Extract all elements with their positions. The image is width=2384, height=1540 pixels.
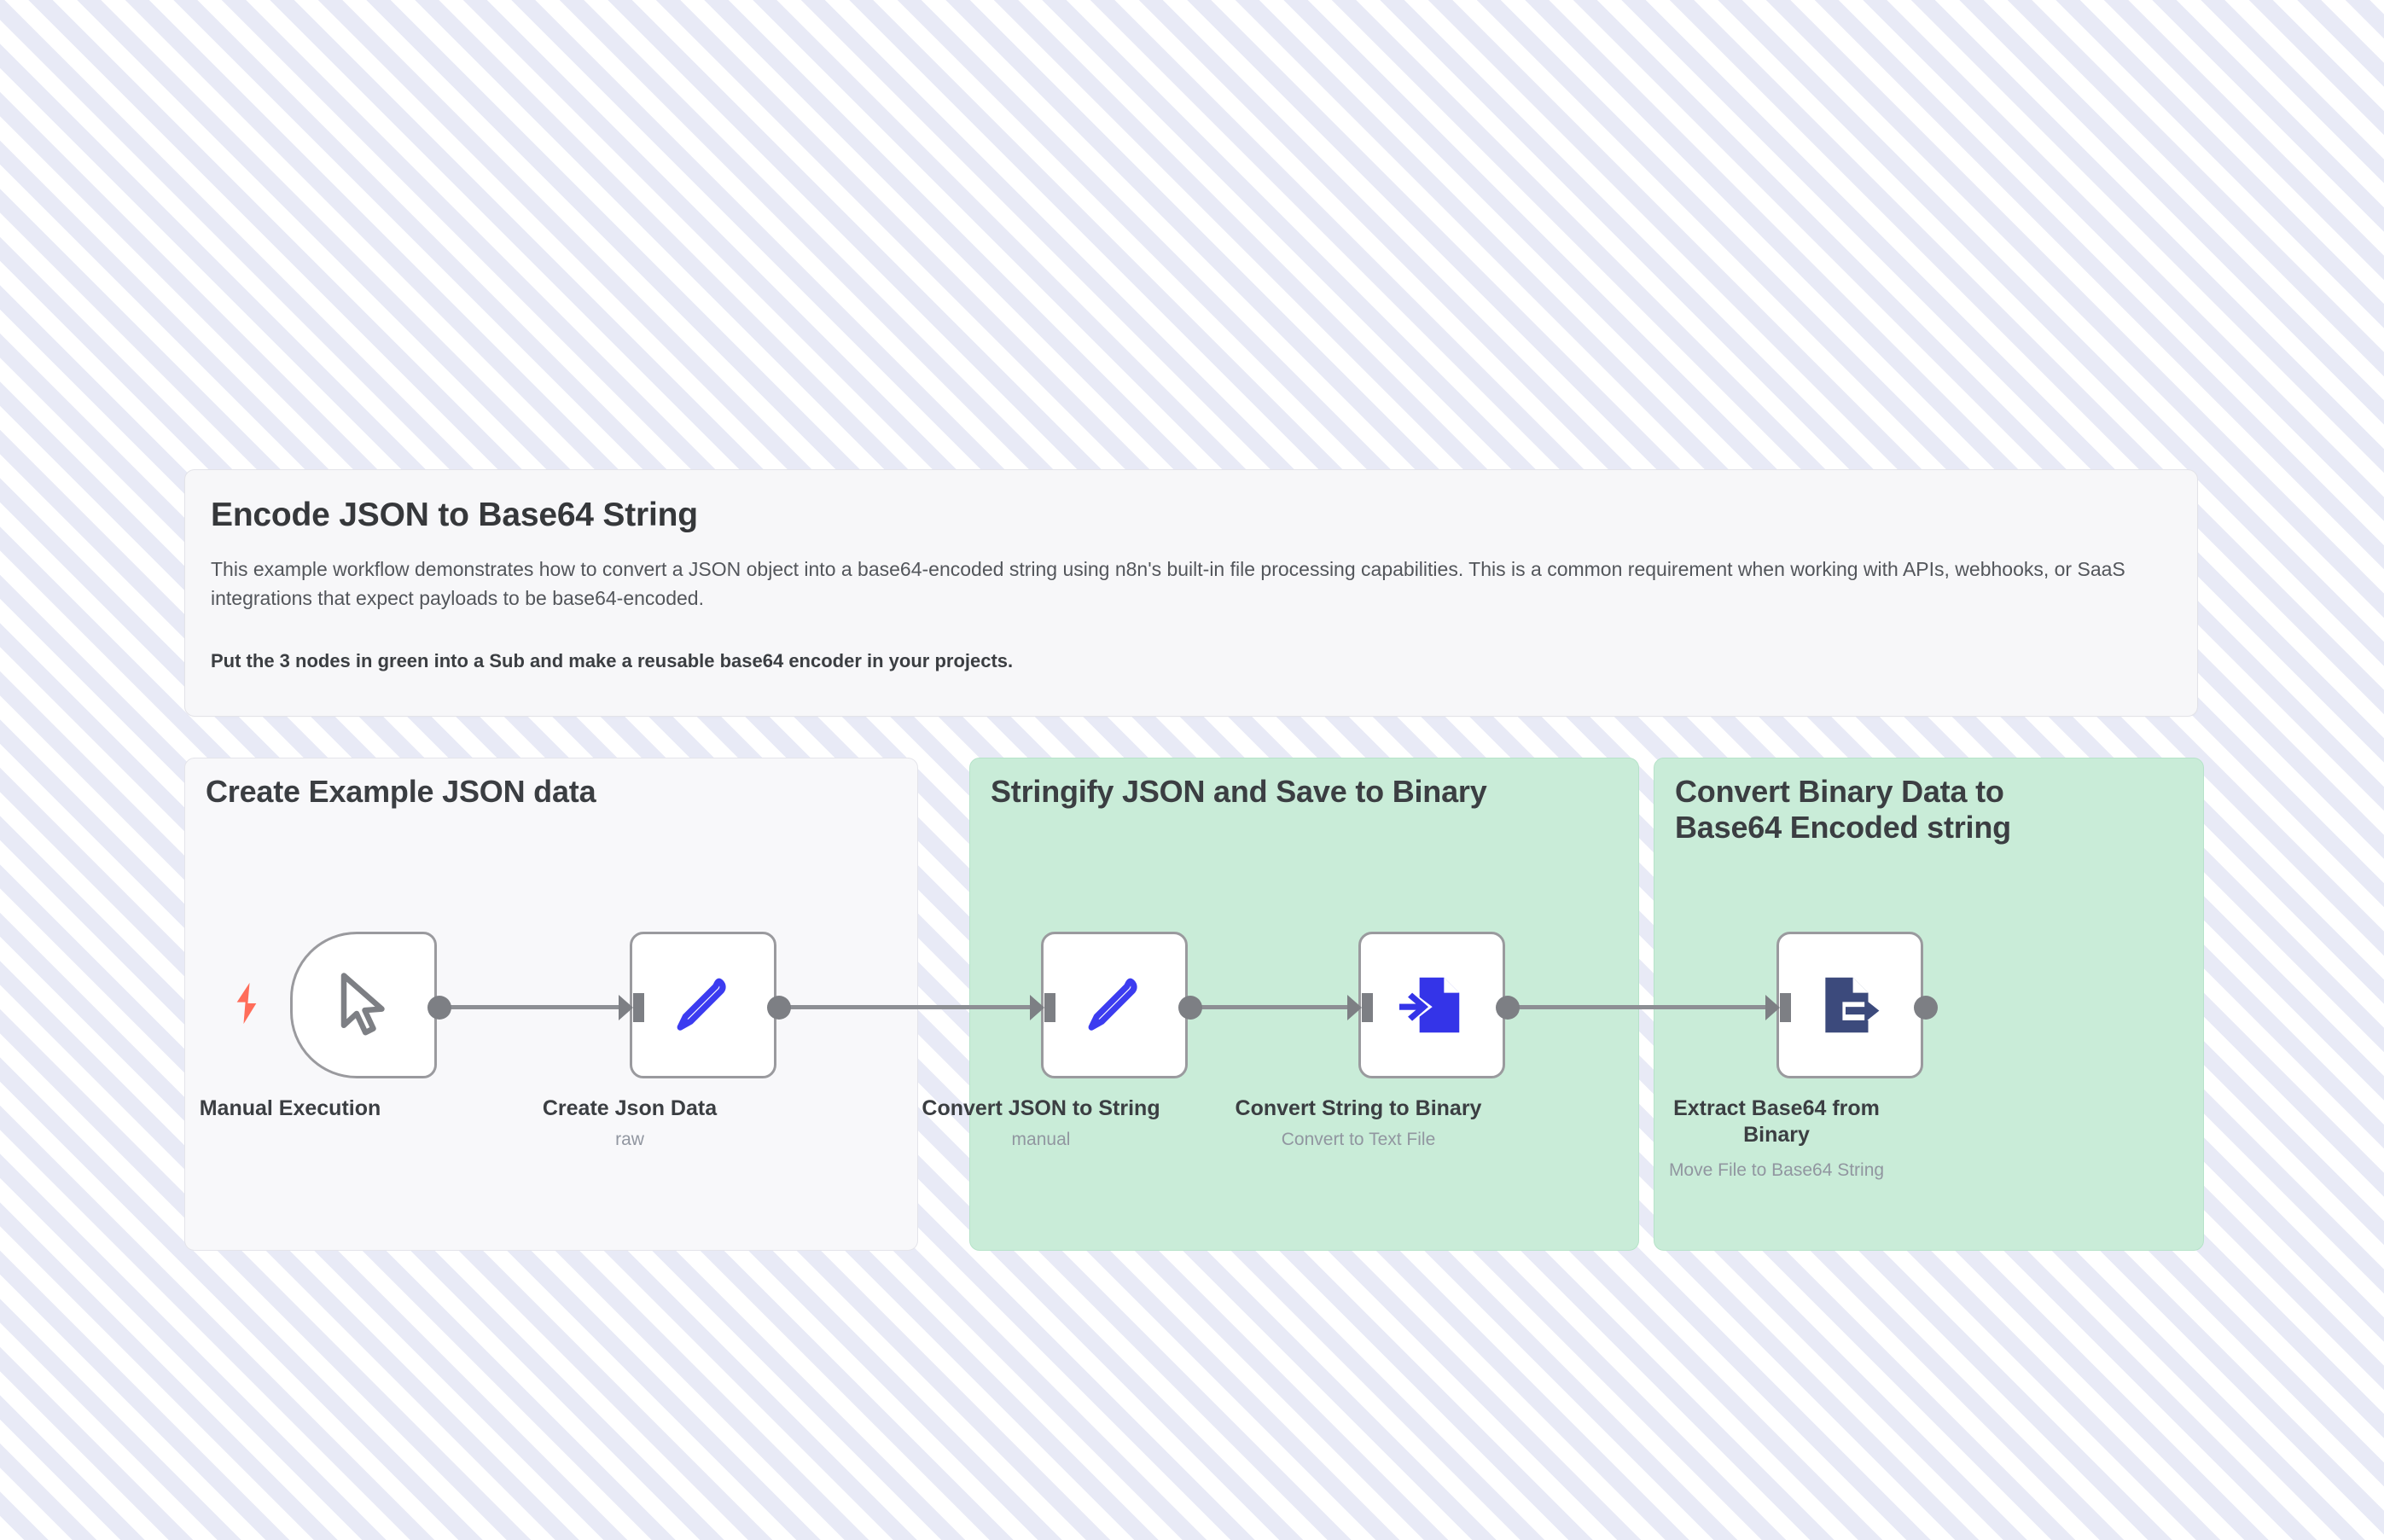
node-input-port[interactable]: [619, 993, 646, 1022]
node-output-port[interactable]: [767, 996, 791, 1020]
node-input-port[interactable]: [1765, 993, 1793, 1022]
node-body[interactable]: [1776, 932, 1923, 1078]
group-title: Stringify JSON and Save to Binary: [991, 774, 1487, 810]
connection-convbin-to-extract[interactable]: [1505, 1005, 1778, 1009]
file-import-icon: [1395, 968, 1468, 1042]
node-subtitle: raw: [615, 1130, 644, 1150]
node-subtitle: manual: [1012, 1130, 1071, 1150]
group-title: Create Example JSON data: [206, 774, 596, 810]
connection-createjson-to-convjson[interactable]: [776, 1005, 1043, 1009]
node-body[interactable]: [1358, 932, 1505, 1078]
node-body[interactable]: [630, 932, 776, 1078]
node-label: Extract Base64 from Binary: [1648, 1095, 1904, 1148]
node-label: Convert JSON to String: [922, 1095, 1160, 1122]
node-body[interactable]: [1041, 932, 1188, 1078]
lightning-bolt-icon: [232, 981, 261, 1026]
node-body[interactable]: [290, 932, 437, 1078]
node-output-port[interactable]: [427, 996, 451, 1020]
node-input-port[interactable]: [1030, 993, 1057, 1022]
sticky-note-title: Encode JSON to Base64 String: [211, 497, 2172, 534]
node-label: Manual Execution: [200, 1095, 381, 1122]
node-label: Convert String to Binary: [1236, 1095, 1482, 1122]
pencil-icon: [664, 966, 742, 1044]
sticky-note-paragraph: This example workflow demonstrates how t…: [211, 555, 2160, 613]
workflow-canvas[interactable]: Encode JSON to Base64 String This exampl…: [0, 0, 2384, 1540]
node-label: Create Json Data: [543, 1095, 717, 1122]
sticky-note-callout: Put the 3 nodes in green into a Sub and …: [211, 647, 2172, 675]
group-title: Convert Binary Data to Base64 Encoded st…: [1675, 774, 2011, 846]
connection-manual-to-createjson[interactable]: [437, 1005, 631, 1009]
node-output-port[interactable]: [1178, 996, 1202, 1020]
mouse-pointer-icon: [324, 966, 403, 1044]
connection-convjson-to-convbin[interactable]: [1188, 1005, 1360, 1009]
pencil-icon: [1075, 966, 1154, 1044]
node-output-port[interactable]: [1914, 996, 1938, 1020]
file-export-icon: [1813, 968, 1887, 1042]
node-subtitle: Convert to Text File: [1282, 1130, 1436, 1150]
sticky-note-description[interactable]: Encode JSON to Base64 String This exampl…: [184, 469, 2198, 717]
node-subtitle: Move File to Base64 String: [1669, 1160, 1884, 1181]
node-input-port[interactable]: [1347, 993, 1375, 1022]
node-output-port[interactable]: [1496, 996, 1520, 1020]
